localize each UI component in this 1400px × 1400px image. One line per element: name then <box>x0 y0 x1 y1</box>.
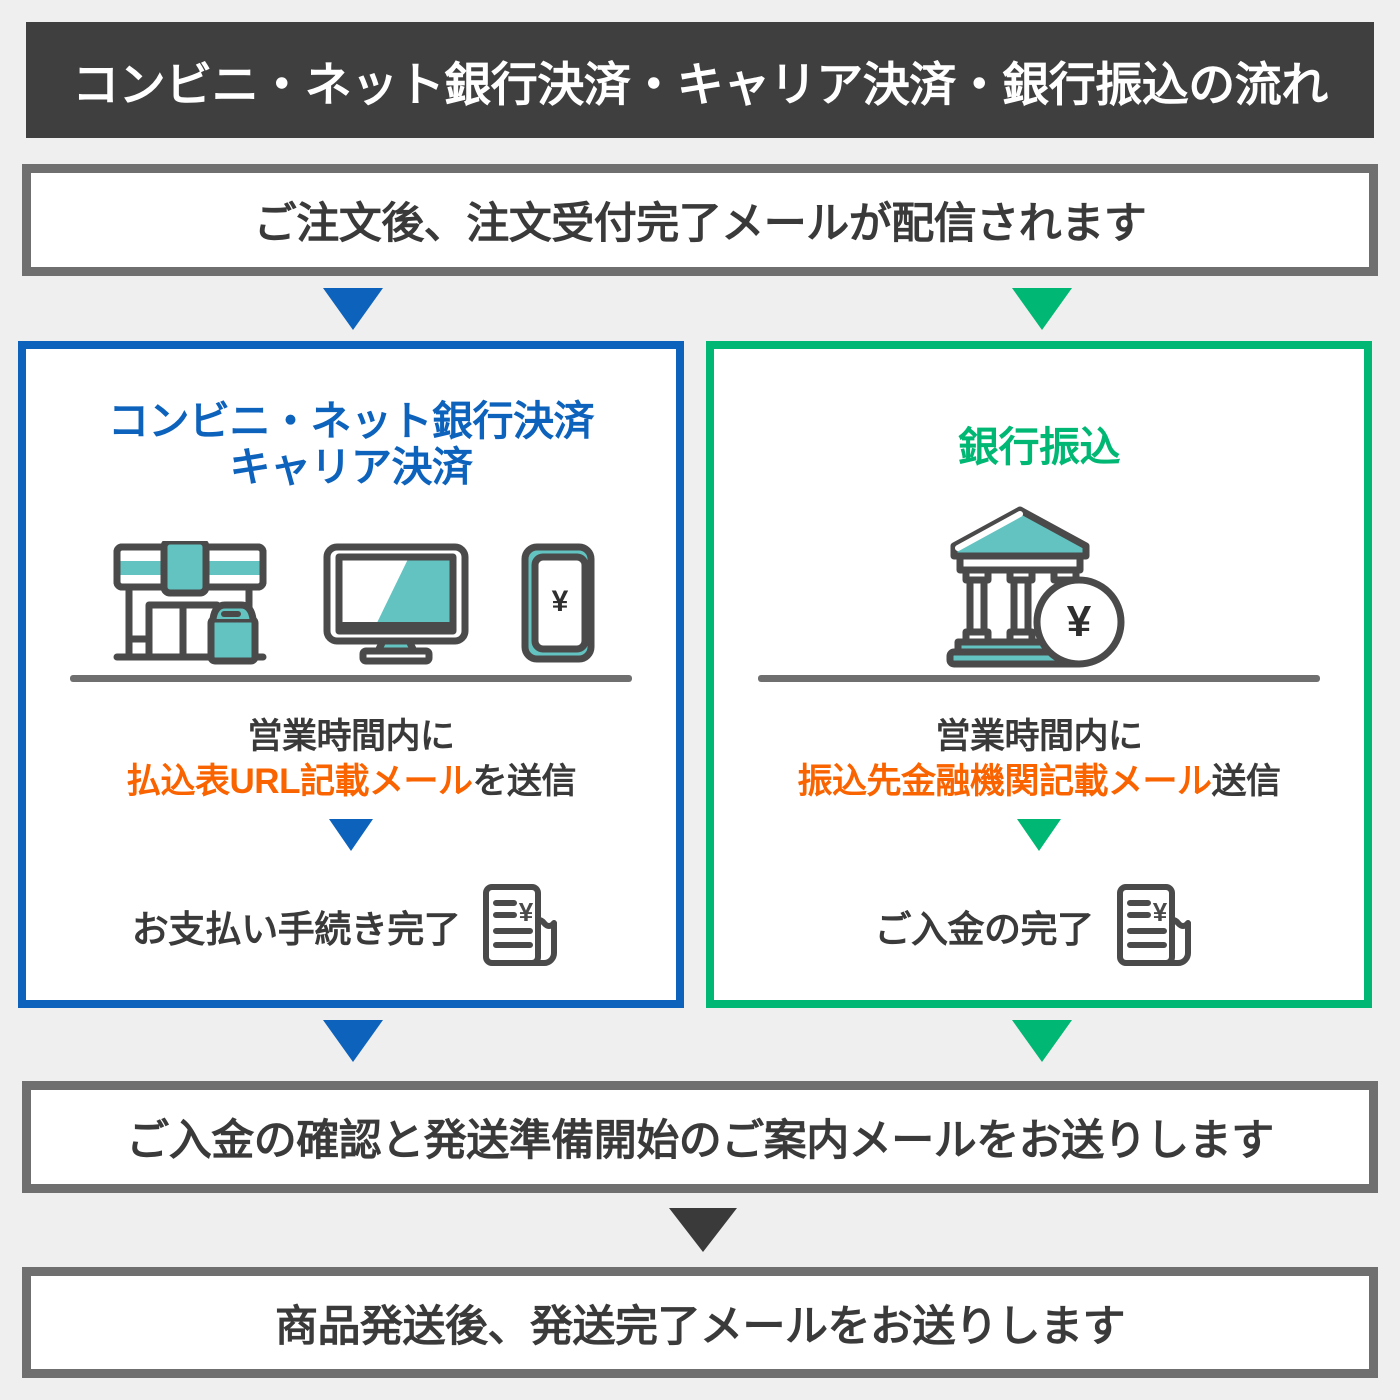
down-triangle-green-top <box>1012 288 1072 330</box>
down-triangle-green-inner <box>714 819 1364 851</box>
step-confirm-label: ご入金の確認と発送準備開始のご案内メールをお送りします <box>126 1106 1274 1168</box>
panel-conveni-title-line2: キャリア決済 <box>26 445 676 491</box>
panel-conveni-note-highlight: 払込表URL記載メール <box>126 762 472 801</box>
step-order-received: ご注文後、注文受付完了メールが配信されます <box>22 164 1378 276</box>
convenience-store-icon <box>103 541 277 665</box>
step-shipment-notice: 商品発送後、発送完了メールをお送りします <box>22 1267 1378 1378</box>
panel-bank-transfer: 銀行振込 <box>706 341 1372 1008</box>
panel-bank-note: 営業時間内に 振込先金融機関記載メール送信 <box>714 715 1364 805</box>
panel-bank-divider <box>758 675 1320 682</box>
panel-bank-note-suffix: 送信 <box>1212 762 1281 801</box>
bank-building-yen-icon: ¥ <box>944 504 1134 670</box>
down-triangle-blue-top <box>323 288 383 330</box>
panel-conveni-title-line1: コンビニ・ネット銀行決済 <box>26 399 676 445</box>
panel-conveni-note-suffix: を送信 <box>472 762 576 801</box>
down-triangle-blue-inner <box>26 819 676 851</box>
step-order-label: ご注文後、注文受付完了メールが配信されます <box>254 189 1147 251</box>
panel-conveni-title: コンビニ・ネット銀行決済 キャリア決済 <box>26 399 676 491</box>
bank-yen-glyph: ¥ <box>1067 597 1092 646</box>
panel-bank-done-label: ご入金の完了 <box>875 899 1094 953</box>
panel-conveni-note: 営業時間内に 払込表URL記載メールを送信 <box>26 715 676 805</box>
down-triangle-dark-bottom <box>669 1208 737 1252</box>
down-triangle-green-mid <box>1012 1020 1072 1062</box>
panel-conveni-note-line1: 営業時間内に <box>26 715 676 760</box>
panel-conveni-done-label: お支払い手続き完了 <box>132 899 461 953</box>
invoice-yen-glyph-left: ¥ <box>519 897 534 927</box>
smartphone-yen-glyph: ¥ <box>552 585 569 618</box>
smartphone-yen-icon: ¥ <box>515 539 599 667</box>
step-shipped-label: 商品発送後、発送完了メールをお送りします <box>275 1292 1125 1354</box>
panel-bank-title: 銀行振込 <box>714 425 1364 471</box>
panel-bank-title-line1: 銀行振込 <box>714 425 1364 471</box>
panel-convenience-payment: コンビニ・ネット銀行決済 キャリア決済 <box>18 341 684 1008</box>
diagram-header: コンビニ・ネット銀行決済・キャリア決済・銀行振込の流れ <box>26 22 1374 138</box>
desktop-monitor-icon <box>321 541 471 665</box>
bank-icon-row: ¥ <box>714 501 1364 673</box>
panel-conveni-done: お支払い手続き完了 ¥ <box>26 879 676 973</box>
panel-bank-note-highlight: 振込先金融機関記載メール <box>797 762 1211 801</box>
panel-bank-note-line1: 営業時間内に <box>714 715 1364 760</box>
invoice-yen-icon: ¥ <box>1106 879 1204 973</box>
panel-bank-done: ご入金の完了 ¥ <box>714 879 1364 973</box>
diagram-title: コンビニ・ネット銀行決済・キャリア決済・銀行振込の流れ <box>72 46 1328 115</box>
invoice-yen-glyph-right: ¥ <box>1152 897 1167 927</box>
invoice-yen-icon: ¥ <box>472 879 570 973</box>
conveni-icon-row: ¥ <box>26 535 676 671</box>
panel-conveni-divider <box>70 675 632 682</box>
step-payment-confirmed: ご入金の確認と発送準備開始のご案内メールをお送りします <box>22 1081 1378 1193</box>
payment-flow-diagram: コンビニ・ネット銀行決済・キャリア決済・銀行振込の流れ ご注文後、注文受付完了メ… <box>0 0 1400 1400</box>
down-triangle-blue-mid <box>323 1020 383 1062</box>
